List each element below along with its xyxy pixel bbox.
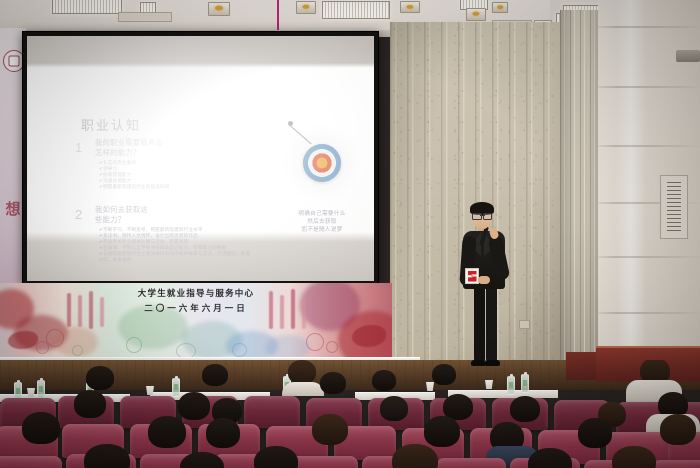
speaker-leg bbox=[486, 286, 497, 362]
audience-head bbox=[22, 412, 60, 444]
paper-cup bbox=[426, 382, 434, 391]
wall-power-socket bbox=[519, 320, 530, 329]
marble-column bbox=[560, 10, 602, 362]
ceiling-spotlight bbox=[208, 2, 230, 16]
audience-head bbox=[380, 396, 408, 421]
ceiling-light-panel bbox=[52, 0, 122, 14]
slide-section-question: 我如何去获取这 些能力？ bbox=[95, 205, 275, 224]
audience-head bbox=[84, 444, 130, 468]
audience-head bbox=[510, 396, 540, 422]
water-bottle bbox=[37, 380, 45, 399]
backdrop-title-block: 大学生就业指导与服务中心 二〇一六年六月一日 bbox=[0, 287, 392, 314]
arrow-icon bbox=[289, 124, 319, 154]
speaker-hand bbox=[478, 276, 490, 284]
paper-cup bbox=[27, 388, 35, 397]
ceiling-pink-wire bbox=[277, 0, 279, 32]
event-backdrop: 大学生就业指导与服务中心 二〇一六年六月一日 bbox=[0, 283, 392, 361]
auditorium-seat bbox=[652, 460, 700, 468]
auditorium-seat bbox=[288, 456, 358, 468]
audience-head bbox=[74, 390, 106, 418]
audience-area bbox=[0, 360, 700, 468]
speaker-name-badge bbox=[465, 268, 479, 284]
water-bottle bbox=[521, 374, 529, 393]
ceiling-light-panel bbox=[322, 1, 390, 19]
paper-cup bbox=[485, 380, 493, 389]
slide-section-number: 1 bbox=[75, 140, 82, 155]
audience-head bbox=[424, 416, 460, 447]
audience-head bbox=[206, 418, 240, 448]
slide-bullet: 把握最新及建筑行业的前沿动向 bbox=[99, 184, 169, 190]
wall-notice-sign bbox=[660, 175, 688, 239]
slide-target-graphic: 明确自己需要什么 然后去获取 而不是随人说梦 bbox=[267, 118, 377, 258]
audience-head bbox=[578, 418, 612, 448]
backdrop-line-1: 大学生就业指导与服务中心 bbox=[0, 287, 392, 299]
wall-lamp bbox=[676, 50, 700, 62]
audience-head bbox=[178, 392, 210, 420]
slide-bullet-list: 不断学习、不断思考，把握最新及建筑行业水平 多读书、保持人文情怀，设计出有思想的… bbox=[99, 227, 250, 263]
ceiling-spotlight bbox=[400, 1, 420, 13]
presentation-slide: 职业认知 1 我的职业需要我具备 怎样的能力？ 扎实的专业素养 领导力 统筹管理… bbox=[49, 90, 396, 289]
audience-head bbox=[254, 446, 298, 468]
slide-section-question: 我的职业需要我具备 怎样的能力？ bbox=[95, 138, 275, 157]
eyeglasses-icon bbox=[472, 213, 492, 218]
audience-head bbox=[660, 414, 696, 445]
audience-head bbox=[432, 364, 456, 385]
audience-head bbox=[392, 444, 438, 468]
slide-bullet-list: 扎实的专业素养 领导力 统筹管理能力 沟通协调能力 把握最新及建筑行业的前沿动向 bbox=[99, 160, 169, 190]
audience-head bbox=[202, 364, 228, 386]
auditorium-seat bbox=[436, 458, 506, 468]
audience-head bbox=[288, 360, 316, 384]
slide-title: 职业认知 bbox=[81, 115, 141, 134]
audience-head bbox=[86, 366, 114, 390]
audience-head bbox=[612, 446, 656, 468]
slide-target-caption: 明确自己需要什么 然后去获取 而不是随人说梦 bbox=[267, 210, 377, 234]
audience-head bbox=[312, 414, 348, 445]
audience-shoulders bbox=[282, 382, 324, 396]
ceiling-spotlight bbox=[492, 2, 508, 13]
audience-head bbox=[320, 372, 346, 394]
backdrop-line-2: 二〇一六年六月一日 bbox=[0, 302, 392, 314]
auditorium-seat bbox=[0, 456, 62, 468]
auditorium-photo: 想 职业认知 1 我的职业需要我具备 怎样的能力？ 扎实的专业素养 领导力 统筹… bbox=[0, 0, 700, 468]
ceiling-spotlight bbox=[296, 1, 316, 14]
ceiling-vent bbox=[118, 12, 172, 22]
paper-cup bbox=[146, 386, 154, 395]
audience-head bbox=[372, 370, 396, 391]
slide-bullet: 问、多多发现 bbox=[99, 257, 250, 263]
speaker-presenter bbox=[452, 200, 518, 372]
water-bottle bbox=[507, 376, 515, 395]
ceiling-spotlight bbox=[466, 8, 486, 21]
slide-section-number: 2 bbox=[75, 207, 82, 222]
speaker-leg bbox=[474, 286, 485, 362]
projection-screen: 职业认知 1 我的职业需要我具备 怎样的能力？ 扎实的专业素养 领导力 统筹管理… bbox=[22, 31, 379, 286]
water-bottle bbox=[172, 378, 180, 397]
audience-head bbox=[148, 416, 186, 448]
